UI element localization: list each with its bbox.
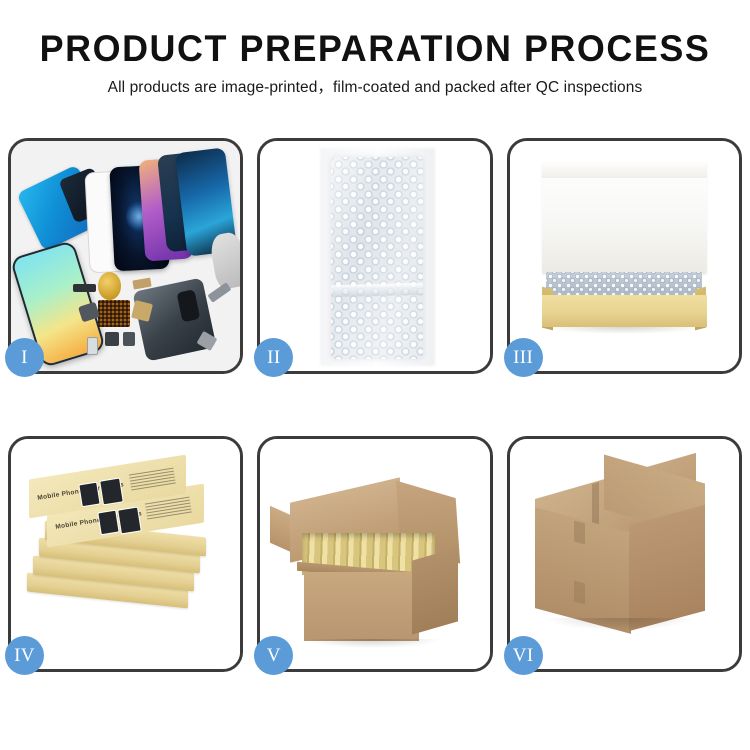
step-badge-1: I [5, 338, 44, 377]
product-preparation-infographic: PRODUCT PREPARATION PROCESS All products… [0, 0, 750, 750]
bubble-wrap-filler [546, 272, 702, 297]
hand-graphic [208, 231, 240, 291]
kraft-box-front-panel [542, 295, 707, 327]
box-screen-graphic-3 [97, 510, 119, 536]
bubble-wrap-sheen [331, 157, 423, 359]
box-stack: Mobile Phone Spare Parts Mobile Phone Sp… [22, 457, 228, 650]
carton-front-panel [304, 572, 419, 641]
card-image-clip-5 [260, 439, 489, 669]
step-badge-5: V [254, 636, 293, 675]
photo-packed-carton [260, 439, 489, 669]
card-image-clip-2 [260, 141, 489, 371]
step-badge-4: IV [5, 636, 44, 675]
process-steps-grid: I II [8, 138, 742, 672]
card-image-clip-6 [510, 439, 739, 669]
step-badge-6: VI [504, 636, 543, 675]
chip-part-2 [123, 332, 134, 346]
page-subtitle: All products are image-printed，film-coat… [0, 80, 750, 96]
card-image-clip-4: Mobile Phone Spare Parts Mobile Phone Sp… [11, 439, 240, 669]
card-image-clip-1 [11, 141, 240, 371]
sealed-carton-right-panel [629, 505, 705, 631]
process-step-card-4[interactable]: Mobile Phone Spare Parts Mobile Phone Sp… [8, 436, 243, 672]
card-image-clip-3 [510, 141, 739, 371]
box-drop-shadow [546, 327, 702, 334]
process-step-card-6[interactable]: VI [507, 436, 742, 672]
bubble-wrap-fold [331, 282, 423, 296]
page-title: PRODUCT PREPARATION PROCESS [11, 30, 739, 67]
sim-tray-part [87, 337, 98, 355]
photo-bubble-wrapped-product [260, 141, 489, 371]
header: PRODUCT PREPARATION PROCESS All products… [0, 0, 750, 96]
process-step-card-1[interactable]: I [8, 138, 243, 374]
photo-open-kraft-box [510, 141, 739, 371]
photo-stacked-boxes: Mobile Phone Spare Parts Mobile Phone Sp… [11, 439, 240, 669]
step-badge-3: III [504, 338, 543, 377]
process-step-card-3[interactable]: III [507, 138, 742, 374]
connector-bar-part [73, 284, 96, 292]
process-step-card-5[interactable]: V [257, 436, 492, 672]
carton-side-panel [412, 547, 458, 634]
sealed-carton-tape-bottom [574, 580, 585, 604]
white-box-lid-edge [542, 162, 707, 178]
chip-part-1 [105, 332, 119, 346]
photo-phones-and-parts [11, 141, 240, 371]
grid-part [98, 300, 130, 328]
step-badge-2: II [254, 338, 293, 377]
process-step-card-2[interactable]: II [257, 138, 492, 374]
sealed-carton-drop-shadow [546, 618, 693, 630]
box-screen-graphic-4 [118, 506, 142, 534]
carton-drop-shadow [306, 639, 439, 648]
box-screen-graphic-2 [99, 477, 123, 505]
photo-sealed-carton [510, 439, 739, 669]
white-box-lid [542, 162, 707, 275]
speaker-part [98, 272, 121, 300]
sealed-carton-tape-top [574, 520, 585, 544]
tweezer-tool [208, 282, 232, 303]
box-screen-graphic-1 [79, 481, 101, 507]
